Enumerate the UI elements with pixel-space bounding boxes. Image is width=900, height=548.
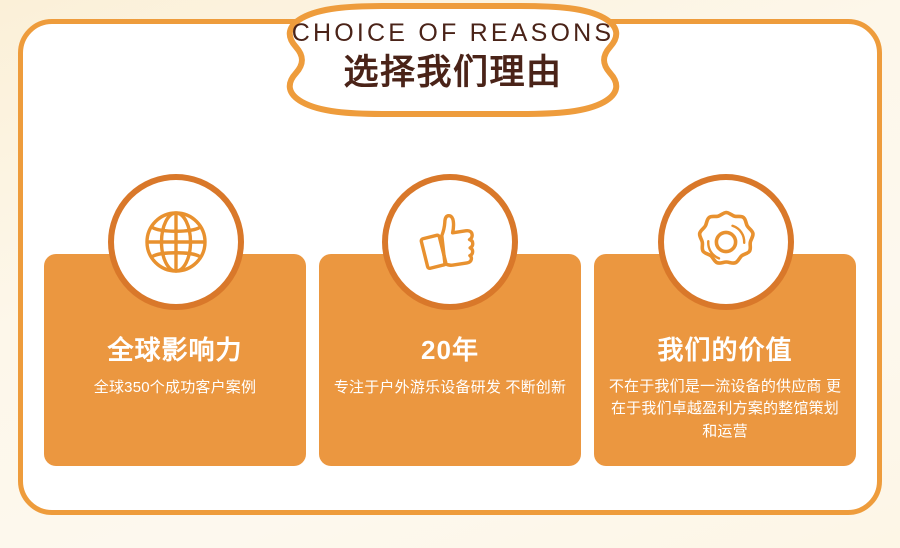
icon-badge-globe <box>108 174 244 310</box>
card-description: 全球350个成功客户案例 <box>94 376 256 399</box>
ribbon-shape <box>290 6 617 114</box>
globe-icon <box>137 203 215 281</box>
icon-badge-thumbs-up <box>382 174 518 310</box>
gear-icon <box>687 203 765 281</box>
thumbs-up-icon <box>411 203 489 281</box>
card-title: 我们的价值 <box>657 336 792 365</box>
card-description: 专注于户外游乐设备研发 不断创新 <box>334 376 566 399</box>
card-description: 不在于我们是一流设备的供应商 更在于我们卓越盈利方案的整馆策划和运营 <box>608 376 842 444</box>
card-title: 20年 <box>421 336 479 365</box>
promo-banner-page: CHOICE OF REASONS 选择我们理由 全球影响力 全球350个成功客… <box>0 0 900 548</box>
card-title: 全球影响力 <box>107 336 242 365</box>
icon-badge-gear <box>658 174 794 310</box>
header-ribbon <box>258 2 648 118</box>
